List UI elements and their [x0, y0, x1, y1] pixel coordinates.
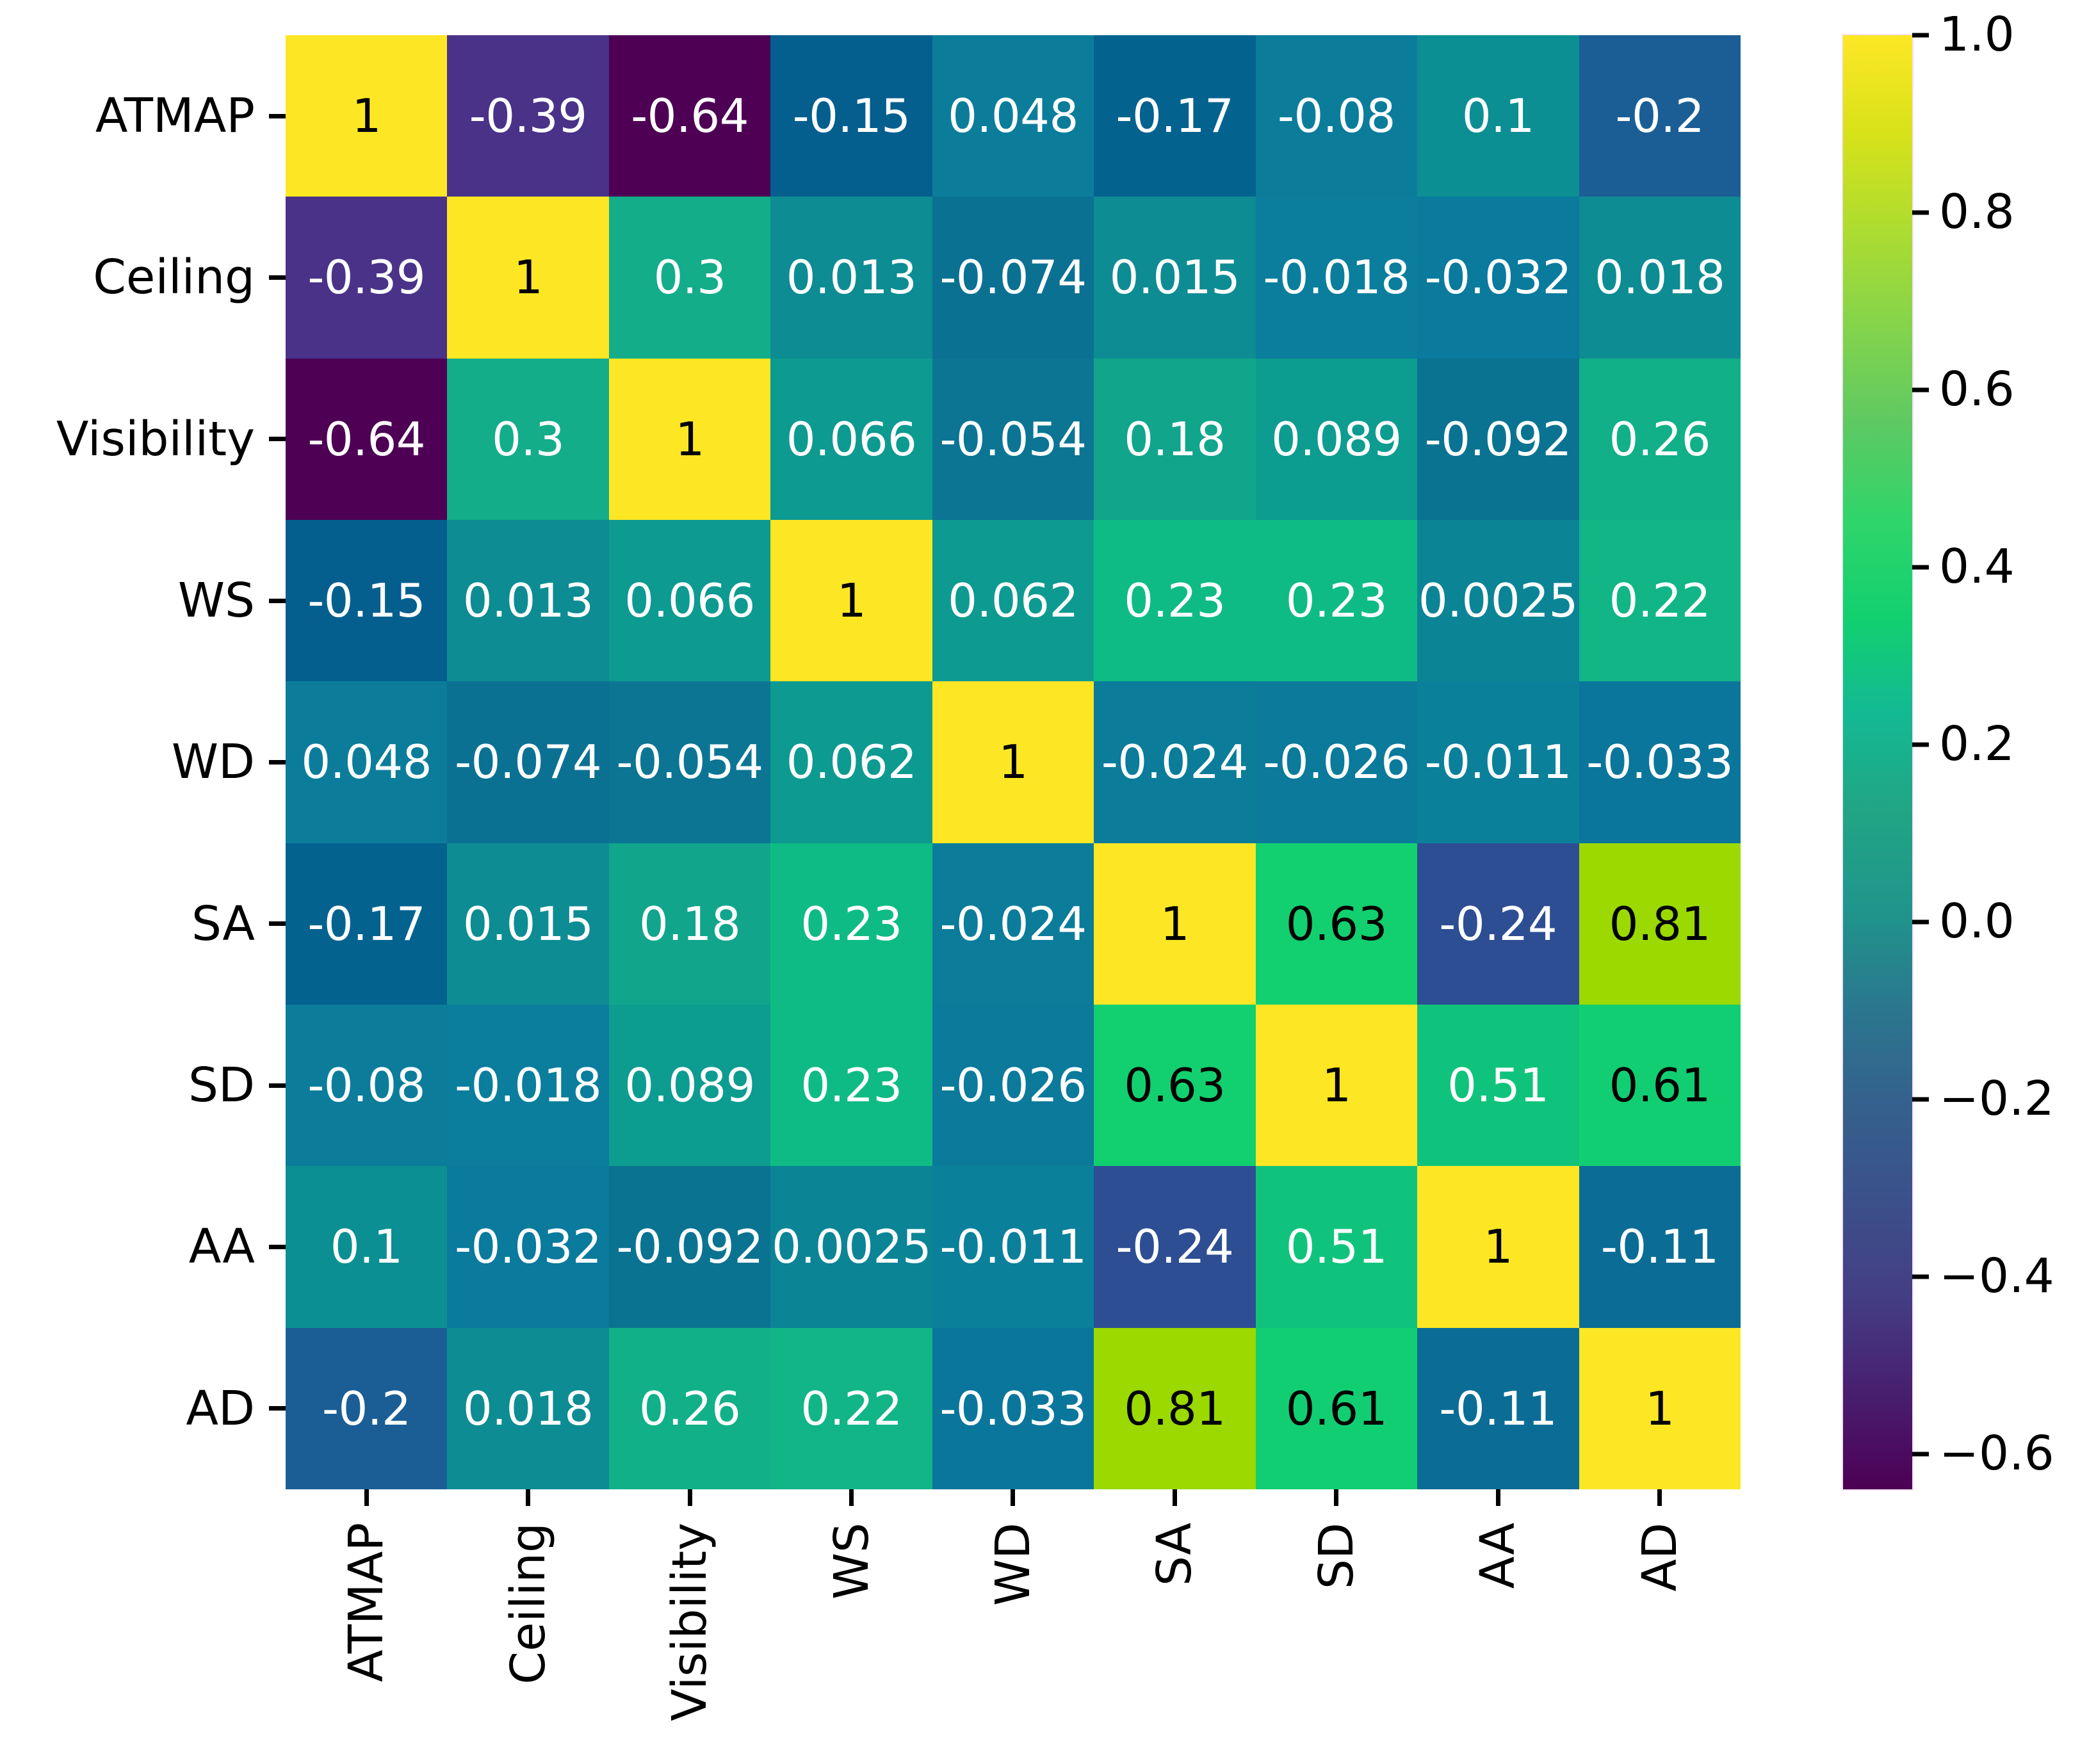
heatmap-cell: 0.018 — [447, 1328, 608, 1489]
x-axis-tick-wd: WD — [932, 1489, 1094, 1764]
heatmap-cell: 0.048 — [932, 35, 1094, 197]
y-axis-tick-ad: AD — [0, 1328, 286, 1489]
heatmap-cell: -0.2 — [1579, 35, 1741, 197]
x-axis-tick-ceiling: Ceiling — [447, 1489, 608, 1764]
y-axis-tick-atmap: ATMAP — [0, 35, 286, 197]
heatmap-cell: 0.1 — [1417, 35, 1579, 197]
cell-value: -0.092 — [617, 1224, 763, 1270]
heatmap-cell: -0.64 — [286, 359, 447, 520]
cell-value: 0.61 — [1286, 1386, 1387, 1432]
heatmap-cell: 0.015 — [1094, 197, 1255, 358]
cell-value: 0.013 — [463, 578, 594, 624]
cell-value: 0.23 — [800, 901, 902, 947]
x-axis-tick-mark — [1011, 1489, 1015, 1506]
heatmap-cell: 0.26 — [609, 1328, 770, 1489]
correlation-heatmap-figure: ATMAPCeilingVisibilityWSWDSASDAAAD 1-0.3… — [0, 0, 2096, 1764]
y-axis-tick-label: ATMAP — [95, 88, 255, 143]
cell-value: 0.81 — [1609, 901, 1710, 947]
heatmap-cell: 0.089 — [609, 1005, 770, 1166]
heatmap-cell: 0.018 — [1579, 197, 1741, 358]
y-axis-tick-aa: AA — [0, 1166, 286, 1327]
cell-value: 0.22 — [1609, 578, 1710, 624]
heatmap-cell: 0.26 — [1579, 359, 1741, 520]
cell-value: 0.048 — [301, 739, 432, 785]
cell-value: 0.3 — [492, 416, 564, 462]
colorbar-tick-label: −0.4 — [1939, 1249, 2054, 1304]
cell-value: -0.074 — [455, 739, 601, 785]
heatmap-cell: 0.013 — [447, 520, 608, 681]
x-axis-tick-mark — [364, 1489, 369, 1506]
cell-value: -0.018 — [455, 1062, 601, 1108]
cell-value: 1 — [1322, 1062, 1351, 1108]
cell-value: -0.032 — [455, 1224, 601, 1270]
cell-value: 1 — [514, 254, 542, 300]
heatmap-cell: -0.2 — [286, 1328, 447, 1489]
heatmap-cell: 0.066 — [609, 520, 770, 681]
cell-value: -0.054 — [617, 739, 763, 785]
cell-value: 0.0025 — [1418, 578, 1578, 624]
heatmap-cell: 1 — [1579, 1328, 1741, 1489]
heatmap-cell: 0.23 — [1094, 520, 1255, 681]
colorbar-tick-label: 0.6 — [1939, 362, 2015, 417]
cell-value: 0.015 — [463, 901, 594, 947]
heatmap-cell: 1 — [932, 681, 1094, 843]
cell-value: -0.092 — [1425, 416, 1572, 462]
cell-value: -0.24 — [1439, 901, 1557, 947]
cell-value: 0.23 — [1286, 578, 1387, 624]
heatmap-cell: 0.048 — [286, 681, 447, 843]
heatmap-cell: -0.17 — [1094, 35, 1255, 197]
colorbar-tick-label: −0.6 — [1939, 1426, 2054, 1481]
cell-value: -0.08 — [1278, 93, 1395, 139]
x-axis-tick-label: AA — [1470, 1523, 1525, 1589]
cell-value: 0.18 — [1124, 416, 1225, 462]
colorbar-tick-mark — [1912, 1097, 1929, 1101]
cell-value: -0.15 — [793, 93, 911, 139]
x-axis-tick-label: WD — [986, 1523, 1041, 1606]
cell-value: -0.39 — [307, 254, 425, 300]
heatmap-cell: -0.15 — [286, 520, 447, 681]
heatmap-cell: -0.64 — [609, 35, 770, 197]
heatmap-cell: -0.011 — [932, 1166, 1094, 1327]
cell-value: -0.011 — [1425, 739, 1572, 785]
cell-value: -0.026 — [939, 1062, 1086, 1108]
x-axis-tick-mark — [526, 1489, 530, 1506]
y-axis-tick-mark — [269, 275, 286, 280]
cell-value: -0.032 — [1425, 254, 1572, 300]
cell-value: 0.048 — [948, 93, 1078, 139]
x-axis-tick-visibility: Visibility — [609, 1489, 770, 1764]
colorbar-tick-label: 0.2 — [1939, 716, 2015, 772]
y-axis-tick-label: SA — [191, 896, 255, 951]
cell-value: -0.24 — [1116, 1224, 1234, 1270]
y-axis-tick-wd: WD — [0, 681, 286, 843]
x-axis-tick-atmap: ATMAP — [286, 1489, 447, 1764]
cell-value: 1 — [998, 739, 1027, 785]
heatmap-cell: -0.11 — [1579, 1166, 1741, 1327]
x-axis-tick-label: WS — [824, 1523, 879, 1599]
heatmap-cell: -0.15 — [770, 35, 932, 197]
heatmap-cell: 0.81 — [1094, 1328, 1255, 1489]
colorbar-tick-mark — [1912, 387, 1929, 392]
cell-value: 0.089 — [624, 1062, 755, 1108]
cell-value: -0.2 — [322, 1386, 410, 1432]
x-axis-tick-aa: AA — [1417, 1489, 1579, 1764]
heatmap-cell: -0.17 — [286, 843, 447, 1005]
heatmap-cell: 0.3 — [447, 359, 608, 520]
heatmap-cell: -0.033 — [932, 1328, 1094, 1489]
cell-value: 1 — [1645, 1386, 1674, 1432]
y-axis-tick-sd: SD — [0, 1005, 286, 1166]
cell-value: 0.51 — [1286, 1224, 1387, 1270]
heatmap-cell: 0.63 — [1094, 1005, 1255, 1166]
cell-value: -0.11 — [1601, 1224, 1719, 1270]
heatmap-cell: 1 — [609, 359, 770, 520]
heatmap-cell: -0.018 — [1256, 197, 1417, 358]
cell-value: 0.018 — [1595, 254, 1725, 300]
heatmap-cell: -0.026 — [1256, 681, 1417, 843]
x-axis-tick-ad: AD — [1579, 1489, 1741, 1764]
heatmap-cell: 0.015 — [447, 843, 608, 1005]
cell-value: -0.074 — [939, 254, 1086, 300]
y-axis-tick-sa: SA — [0, 843, 286, 1005]
heatmap-cell: 1 — [1094, 843, 1255, 1005]
colorbar-tick-label: 0.4 — [1939, 539, 2015, 594]
cell-value: 0.61 — [1609, 1062, 1710, 1108]
cell-value: -0.026 — [1263, 739, 1410, 785]
y-axis-tick-ws: WS — [0, 520, 286, 681]
cell-value: 0.63 — [1286, 901, 1387, 947]
cell-value: 0.018 — [463, 1386, 594, 1432]
cell-value: -0.17 — [1116, 93, 1234, 139]
cell-value: 0.0025 — [772, 1224, 931, 1270]
x-axis-tick-sd: SD — [1256, 1489, 1417, 1764]
heatmap-cell: -0.08 — [286, 1005, 447, 1166]
cell-value: 0.066 — [786, 416, 917, 462]
heatmap-cell: 0.81 — [1579, 843, 1741, 1005]
heatmap-cell: 0.1 — [286, 1166, 447, 1327]
cell-value: 0.26 — [1609, 416, 1710, 462]
heatmap-cell: 0.22 — [1579, 520, 1741, 681]
x-axis-tick-mark — [1657, 1489, 1662, 1506]
heatmap-cell: 0.51 — [1417, 1005, 1579, 1166]
heatmap-cell: 0.18 — [609, 843, 770, 1005]
colorbar-container: 1.00.80.60.40.20.0−0.2−0.4−0.6 — [1843, 35, 2096, 1489]
y-axis-tick-label: SD — [188, 1058, 255, 1113]
heatmap-cell: -0.018 — [447, 1005, 608, 1166]
cell-value: -0.08 — [307, 1062, 425, 1108]
heatmap-cell: -0.054 — [609, 681, 770, 843]
cell-value: 0.015 — [1110, 254, 1240, 300]
heatmap-cell: 0.089 — [1256, 359, 1417, 520]
x-axis-tick-mark — [688, 1489, 692, 1506]
heatmap-cell: 0.066 — [770, 359, 932, 520]
heatmap-cell: -0.032 — [447, 1166, 608, 1327]
x-axis-tick-label: SA — [1147, 1523, 1202, 1586]
colorbar-gradient — [1843, 35, 1912, 1489]
x-axis-tick-mark — [849, 1489, 854, 1506]
x-axis-tick-label: AD — [1632, 1523, 1687, 1592]
y-axis-tick-label: Visibility — [56, 412, 255, 467]
heatmap-cell: -0.024 — [1094, 681, 1255, 843]
heatmap-cell: -0.24 — [1094, 1166, 1255, 1327]
cell-value: 0.51 — [1447, 1062, 1548, 1108]
heatmap-cell: 0.23 — [770, 1005, 932, 1166]
y-axis-tick-mark — [269, 437, 286, 441]
cell-value: 0.013 — [786, 254, 917, 300]
heatmap-cell: 0.23 — [1256, 520, 1417, 681]
heatmap-cell: -0.24 — [1417, 843, 1579, 1005]
x-axis-tick-sa: SA — [1094, 1489, 1255, 1764]
cell-value: 0.23 — [1124, 578, 1225, 624]
cell-value: 0.22 — [800, 1386, 902, 1432]
cell-value: -0.011 — [939, 1224, 1086, 1270]
heatmap-cell: -0.11 — [1417, 1328, 1579, 1489]
heatmap-cell: 0.61 — [1256, 1328, 1417, 1489]
heatmap-cell: -0.074 — [932, 197, 1094, 358]
heatmap-cell: -0.033 — [1579, 681, 1741, 843]
y-axis-tick-ceiling: Ceiling — [0, 197, 286, 358]
colorbar-tick-mark — [1912, 1452, 1929, 1456]
y-axis-tick-mark — [269, 1245, 286, 1249]
y-axis-tick-label: AD — [186, 1381, 255, 1436]
cell-value: -0.033 — [1586, 739, 1733, 785]
cell-value: 1 — [837, 578, 866, 624]
x-axis-tick-label: Visibility — [662, 1523, 717, 1721]
cell-value: 0.63 — [1124, 1062, 1225, 1108]
heatmap-cell: -0.011 — [1417, 681, 1579, 843]
heatmap-cell: 0.23 — [770, 843, 932, 1005]
cell-value: 0.18 — [639, 901, 740, 947]
cell-value: -0.11 — [1439, 1386, 1557, 1432]
colorbar-tick-mark — [1912, 565, 1929, 569]
colorbar-tick-mark — [1912, 1274, 1929, 1279]
heatmap-grid: 1-0.39-0.64-0.150.048-0.17-0.080.1-0.2-0… — [286, 35, 1741, 1489]
heatmap-cell: 0.0025 — [770, 1166, 932, 1327]
cell-value: 1 — [1160, 901, 1189, 947]
y-axis-labels: ATMAPCeilingVisibilityWSWDSASDAAAD — [0, 35, 286, 1489]
heatmap-cell: 0.61 — [1579, 1005, 1741, 1166]
heatmap-cell: 1 — [447, 197, 608, 358]
cell-value: 0.1 — [1462, 93, 1534, 139]
y-axis-tick-label: WS — [178, 573, 255, 628]
cell-value: -0.2 — [1616, 93, 1704, 139]
x-axis-tick-label: Ceiling — [501, 1523, 556, 1685]
y-axis-tick-mark — [269, 114, 286, 118]
colorbar-tick-mark — [1912, 210, 1929, 214]
cell-value: -0.64 — [631, 93, 749, 139]
y-axis-tick-mark — [269, 760, 286, 765]
heatmap-cell: -0.054 — [932, 359, 1094, 520]
y-axis-tick-mark — [269, 1406, 286, 1411]
cell-value: 0.81 — [1124, 1386, 1225, 1432]
x-axis-tick-mark — [1173, 1489, 1177, 1506]
cell-value: 0.3 — [654, 254, 726, 300]
colorbar-tick-mark — [1912, 33, 1929, 38]
cell-value: -0.024 — [1101, 739, 1248, 785]
heatmap-cell: -0.092 — [1417, 359, 1579, 520]
heatmap-cell: 0.062 — [770, 681, 932, 843]
y-axis-tick-mark — [269, 921, 286, 926]
heatmap-cell: -0.39 — [286, 197, 447, 358]
colorbar-tick-label: 1.0 — [1939, 7, 2015, 62]
y-axis-tick-mark — [269, 599, 286, 603]
x-axis-labels: ATMAPCeilingVisibilityWSWDSASDAAAD — [286, 1489, 1741, 1764]
cell-value: 1 — [352, 93, 381, 139]
colorbar-tick-mark — [1912, 742, 1929, 747]
x-axis-tick-label: SD — [1309, 1523, 1364, 1589]
y-axis-tick-visibility: Visibility — [0, 359, 286, 520]
heatmap-cell: -0.08 — [1256, 35, 1417, 197]
cell-value: 1 — [1484, 1224, 1513, 1270]
cell-value: -0.15 — [307, 578, 425, 624]
cell-value: 0.26 — [639, 1386, 740, 1432]
heatmap-cell: 1 — [286, 35, 447, 197]
heatmap-cell: 1 — [1256, 1005, 1417, 1166]
x-axis-tick-mark — [1496, 1489, 1500, 1506]
cell-value: 0.23 — [800, 1062, 902, 1108]
x-axis-tick-ws: WS — [770, 1489, 932, 1764]
colorbar-tick-label: −0.2 — [1939, 1071, 2054, 1126]
heatmap-cell: 0.3 — [609, 197, 770, 358]
heatmap-cell: 0.18 — [1094, 359, 1255, 520]
cell-value: -0.033 — [939, 1386, 1086, 1432]
heatmap-cell: -0.092 — [609, 1166, 770, 1327]
heatmap-cell: 0.0025 — [1417, 520, 1579, 681]
heatmap-cell: 1 — [770, 520, 932, 681]
colorbar-tick-mark — [1912, 919, 1929, 924]
y-axis-tick-label: WD — [172, 734, 255, 789]
cell-value: -0.64 — [307, 416, 425, 462]
y-axis-tick-label: AA — [189, 1219, 255, 1274]
heatmap-cell: 0.51 — [1256, 1166, 1417, 1327]
colorbar-tick-label: 0.8 — [1939, 184, 2015, 239]
cell-value: -0.018 — [1263, 254, 1410, 300]
cell-value: -0.024 — [939, 901, 1086, 947]
heatmap-cell: -0.026 — [932, 1005, 1094, 1166]
cell-value: -0.39 — [469, 93, 587, 139]
heatmap-cell: 0.63 — [1256, 843, 1417, 1005]
heatmap-cell: 1 — [1417, 1166, 1579, 1327]
cell-value: 0.066 — [624, 578, 755, 624]
heatmap-cell: 0.22 — [770, 1328, 932, 1489]
heatmap-cell: 0.013 — [770, 197, 932, 358]
heatmap-cell: -0.074 — [447, 681, 608, 843]
heatmap-cell: -0.032 — [1417, 197, 1579, 358]
y-axis-tick-mark — [269, 1083, 286, 1088]
x-axis-tick-label: ATMAP — [339, 1523, 394, 1682]
heatmap-cell: -0.024 — [932, 843, 1094, 1005]
colorbar-tick-label: 0.0 — [1939, 894, 2015, 949]
cell-value: -0.17 — [307, 901, 425, 947]
cell-value: -0.054 — [939, 416, 1086, 462]
heatmap-cell: -0.39 — [447, 35, 608, 197]
heatmap-cell: 0.062 — [932, 520, 1094, 681]
cell-value: 1 — [675, 416, 704, 462]
cell-value: 0.062 — [948, 578, 1078, 624]
x-axis-tick-mark — [1334, 1489, 1338, 1506]
cell-value: 0.1 — [330, 1224, 403, 1270]
y-axis-tick-label: Ceiling — [93, 250, 255, 305]
cell-value: 0.062 — [786, 739, 917, 785]
cell-value: 0.089 — [1271, 416, 1402, 462]
